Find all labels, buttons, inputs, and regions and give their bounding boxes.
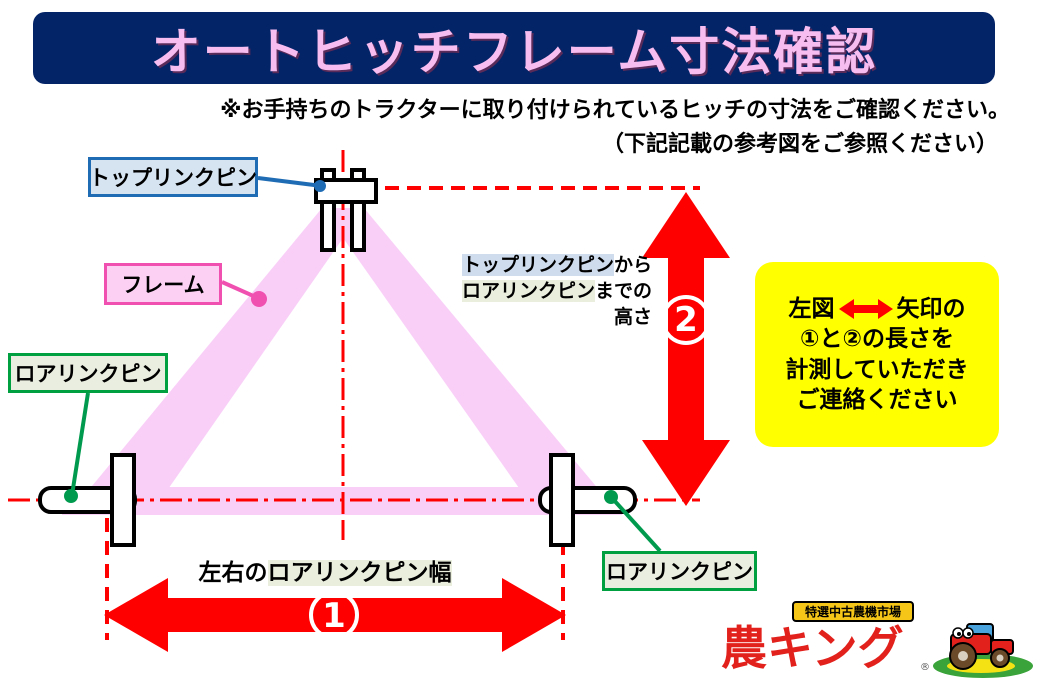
label-frame-text: フレーム — [121, 269, 204, 299]
dimension-arrow-two — [642, 192, 730, 506]
label-frame[interactable]: フレーム — [104, 263, 222, 305]
lower-right-pin-assembly — [540, 455, 635, 545]
label-lower-link-pin-left[interactable]: ロアリンクピン — [8, 353, 168, 393]
note-line-3: 計測していただき — [785, 355, 968, 385]
note-line-1-suffix: 矢印の — [897, 294, 966, 324]
height-caption-lower-pin: ロアリンクピン — [462, 280, 595, 302]
marker-one-text: 1 — [322, 596, 346, 636]
note-line-1: 左図 矢印の — [789, 294, 966, 324]
lower-left-pin-assembly — [40, 455, 135, 545]
logo-banner-text: 特選中古農機市場 — [805, 604, 901, 619]
dimension-caption-prefix: 左右の — [199, 560, 268, 586]
label-top-link-pin-text: トップリンクピン — [89, 162, 257, 192]
height-caption-height: 高さ — [614, 306, 652, 328]
poster-canvas: オートヒッチフレーム寸法確認 ※お手持ちのトラクターに取り付けられているヒッチの… — [0, 0, 1050, 686]
logo-brand-text: 農キング — [721, 621, 904, 675]
tractor-mascot-icon — [933, 624, 1033, 678]
label-lower-link-pin-left-text: ロアリンクピン — [15, 358, 162, 388]
label-lower-link-pin-right[interactable]: ロアリンクピン — [602, 551, 757, 591]
height-caption: トップリンクピンから ロアリンクピンまでの 高さ — [440, 252, 652, 331]
marker-two-text: 2 — [674, 300, 698, 340]
dimension-caption-highlight: ロアリンクピン幅 — [268, 560, 452, 586]
logo-banner: 特選中古農機市場 — [793, 602, 913, 621]
nouking-logo[interactable]: 特選中古農機市場 農キング ® — [715, 600, 1035, 678]
note-line-4: ご連絡ください — [797, 385, 958, 415]
label-top-link-pin[interactable]: トップリンクピン — [88, 157, 258, 197]
logo-registered-mark: ® — [920, 662, 930, 673]
height-caption-from: から — [614, 254, 652, 276]
height-caption-to: までの — [595, 280, 652, 302]
height-caption-top-pin: トップリンクピン — [462, 254, 614, 276]
label-lower-link-pin-right-text: ロアリンクピン — [606, 556, 753, 586]
instruction-note: 左図 矢印の ①と②の長さを 計測していただき ご連絡ください — [755, 262, 999, 447]
dimension-caption: 左右のロアリンクピン幅 — [110, 553, 540, 587]
double-arrow-icon — [839, 298, 893, 320]
note-line-2: ①と②の長さを — [800, 324, 954, 354]
note-line-1-prefix: 左図 — [789, 294, 835, 324]
